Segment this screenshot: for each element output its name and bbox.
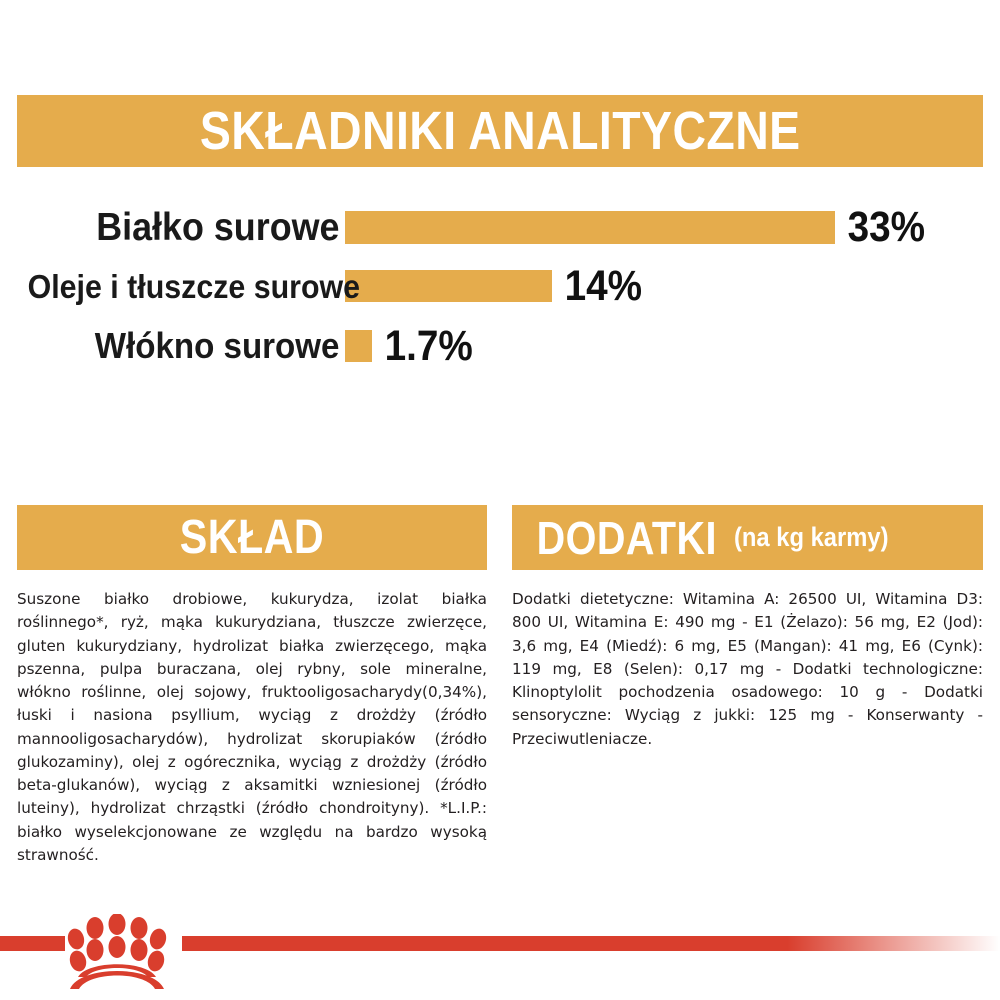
chart-bar-label: Włókno surowe — [28, 328, 345, 364]
additives-header: DODATKI (na kg karmy) — [512, 505, 983, 570]
chart-bar-fill — [345, 330, 372, 362]
additives-text: Dodatki dietetyczne: Witamina A: 26500 U… — [512, 588, 983, 751]
crown-paw-icon — [62, 914, 172, 994]
analytical-constituents-title: SKŁADNIKI ANALITYCZNE — [200, 104, 801, 158]
footer-brand-strip — [0, 910, 1000, 1000]
chart-row: Oleje i tłuszcze surowe 14% — [0, 264, 1000, 308]
additives-subtitle: (na kg karmy) — [734, 524, 889, 551]
composition-text: Suszone białko drobiowe, kukurydza, izol… — [17, 588, 487, 867]
chart-bar-fill — [345, 270, 552, 302]
footer-rule-left — [0, 936, 65, 951]
chart-bar-label: Białko surowe — [28, 208, 345, 247]
additives-title: DODATKI — [537, 515, 717, 561]
composition-header: SKŁAD — [17, 505, 487, 570]
composition-title: SKŁAD — [180, 514, 324, 562]
chart-bar-value: 1.7% — [372, 325, 473, 368]
footer-rule-right — [182, 936, 1000, 951]
chart-bar-value: 33% — [835, 206, 925, 249]
chart-bar-value: 14% — [552, 265, 642, 308]
chart-row: Białko surowe 33% — [0, 204, 1000, 250]
chart-row: Włókno surowe 1.7% — [0, 324, 1000, 368]
analytical-constituents-chart: Białko surowe 33% Oleje i tłuszcze surow… — [0, 196, 1000, 386]
chart-bar-label: Oleje i tłuszcze surowe — [28, 270, 345, 303]
analytical-constituents-header: SKŁADNIKI ANALITYCZNE — [17, 95, 983, 167]
chart-bar-fill — [345, 211, 835, 244]
